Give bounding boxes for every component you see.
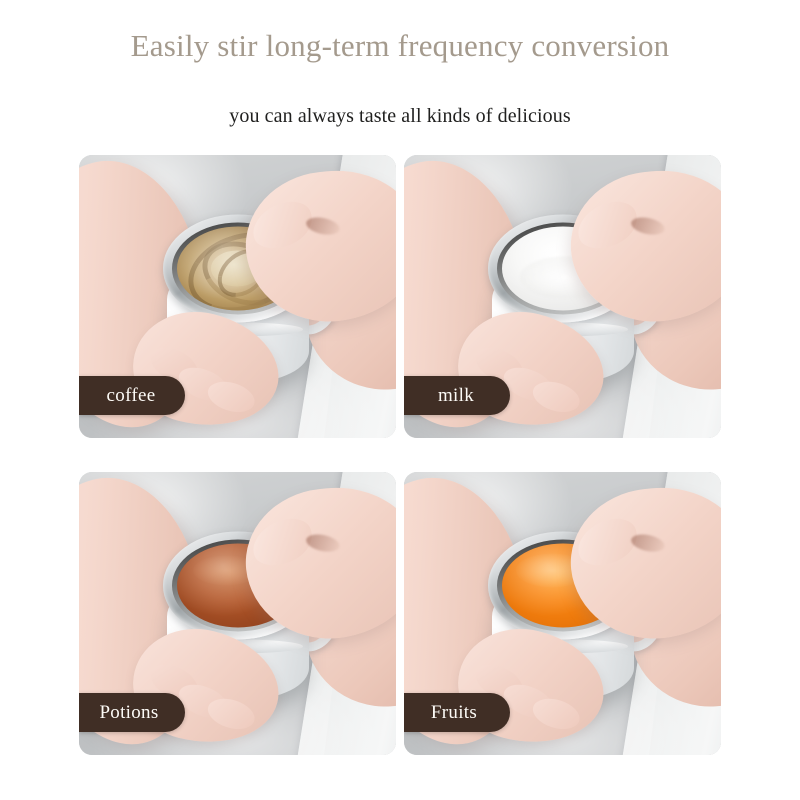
badge-potions: Potions bbox=[79, 693, 185, 732]
knuckle-crease bbox=[630, 215, 667, 238]
page-title: Easily stir long-term frequency conversi… bbox=[0, 26, 800, 66]
gallery-card-coffee[interactable]: coffee bbox=[79, 155, 396, 438]
badge-milk: milk bbox=[404, 376, 510, 415]
badge-coffee: coffee bbox=[79, 376, 185, 415]
gallery-card-milk[interactable]: milk bbox=[404, 155, 721, 438]
page-subtitle: you can always taste all kinds of delici… bbox=[0, 102, 800, 130]
knuckle-crease bbox=[305, 215, 342, 238]
product-usage-gallery: coffee bbox=[79, 155, 721, 763]
page-header: Easily stir long-term frequency conversi… bbox=[0, 0, 800, 150]
gallery-card-potions[interactable]: Potions bbox=[79, 472, 396, 755]
knuckle-crease bbox=[305, 532, 342, 555]
knuckle-crease bbox=[630, 532, 667, 555]
gallery-card-fruits[interactable]: Fruits bbox=[404, 472, 721, 755]
badge-fruits: Fruits bbox=[404, 693, 510, 732]
